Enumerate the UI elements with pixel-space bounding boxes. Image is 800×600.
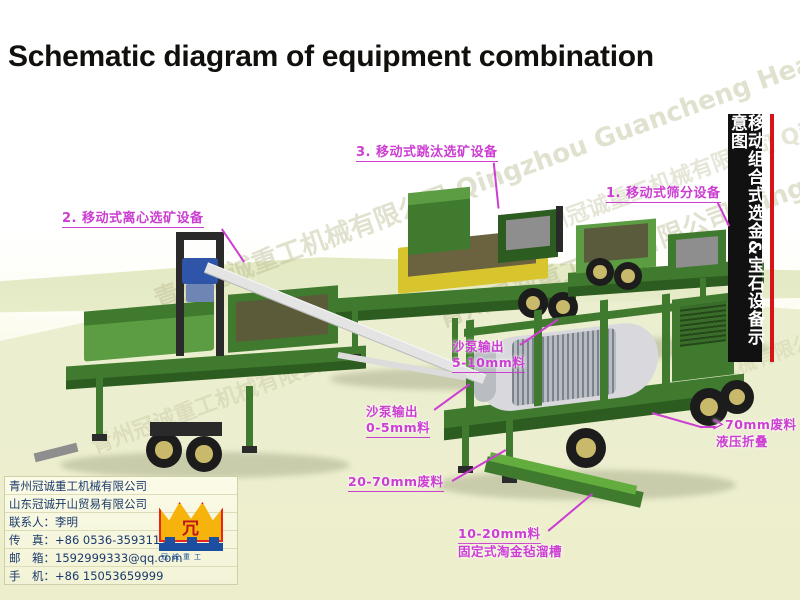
unit1-tire (586, 258, 614, 286)
contact-company-1: 青州冠诚重工机械有限公司 (5, 477, 237, 495)
trommel-leg (462, 412, 469, 468)
company-logo: 冗 冠诚重工 (155, 500, 227, 564)
contact-mobile-key: 手 机 (9, 568, 44, 584)
unit2-leg (246, 386, 253, 448)
contact-email-key: 邮 箱 (9, 550, 44, 566)
unit2-leg (96, 376, 103, 436)
diagram-canvas: 青州冠诚重工机械有限公司 Qingzhou Guancheng Heavy In… (0, 0, 800, 600)
unit2-axle (150, 422, 222, 436)
label-pump-out-0-5-line2: 0-5mm料 (366, 417, 430, 438)
unit2-motor (186, 284, 214, 302)
unit2-foot (242, 446, 257, 453)
label-pump-out-5-10-line2: 5-10mm料 (452, 352, 525, 373)
unit3-exhaust (556, 206, 563, 252)
trommel-tire (720, 380, 754, 414)
label-equipment-1: 1. 移动式筛分设备 (606, 182, 721, 203)
page-title: Schematic diagram of equipment combinati… (8, 40, 654, 74)
leader-line-equipment-3 (493, 163, 499, 209)
vertical-banner-text: 移动组合式选金&宝石设备示意图 (728, 114, 762, 362)
trommel-tire (566, 428, 606, 468)
unit2-tire (146, 432, 182, 468)
unit2-foot (92, 434, 107, 441)
unit2-frame-right (216, 236, 224, 356)
contact-fax-key: 传 真 (9, 532, 44, 548)
vertical-banner: 移动组合式选金&宝石设备示意图 (728, 114, 762, 362)
unit2-frame-left (176, 236, 184, 356)
contact-person-key: 联系人 (9, 514, 44, 530)
logo-base-bar (159, 543, 223, 551)
label-sluice-line2: 固定式淘金毡溜槽 (458, 541, 562, 560)
label-equipment-3: 3. 移动式跳汰选矿设备 (356, 141, 498, 162)
unit3-tire (518, 288, 548, 318)
unit1-screen-mesh (584, 223, 648, 263)
contact-person-value: ：李明 (44, 514, 79, 530)
contact-mobile-row: 手 机 ：+86 15053659999 (5, 567, 237, 584)
banner-red-stripe (770, 114, 774, 362)
unit2-tire (186, 436, 222, 472)
trommel-radiator-grille (680, 301, 726, 347)
leader-line-waste-70 (700, 426, 716, 428)
logo-subtext: 冠诚重工 (161, 552, 205, 562)
contact-company-2-text: 山东冠诚开山贸易有限公司 (9, 496, 147, 512)
unit3-engine (506, 216, 550, 251)
unit2-frame-top (176, 232, 224, 240)
label-waste-20-70: 20-70mm废料 (348, 471, 444, 492)
label-equipment-2: 2. 移动式离心选矿设备 (62, 207, 204, 228)
unit1-engine (676, 236, 718, 268)
unit1-tire (614, 262, 642, 290)
contact-fax-value: ：+86 0536-3593111 (44, 532, 168, 548)
label-waste-70-line2: 液压折叠 (716, 431, 768, 450)
contact-company-1-text: 青州冠诚重工机械有限公司 (9, 478, 147, 494)
crown-letter: 冗 (182, 514, 199, 539)
contact-mobile-value: ：+86 15053659999 (44, 568, 164, 584)
leader-line-equipment-2 (221, 228, 245, 262)
